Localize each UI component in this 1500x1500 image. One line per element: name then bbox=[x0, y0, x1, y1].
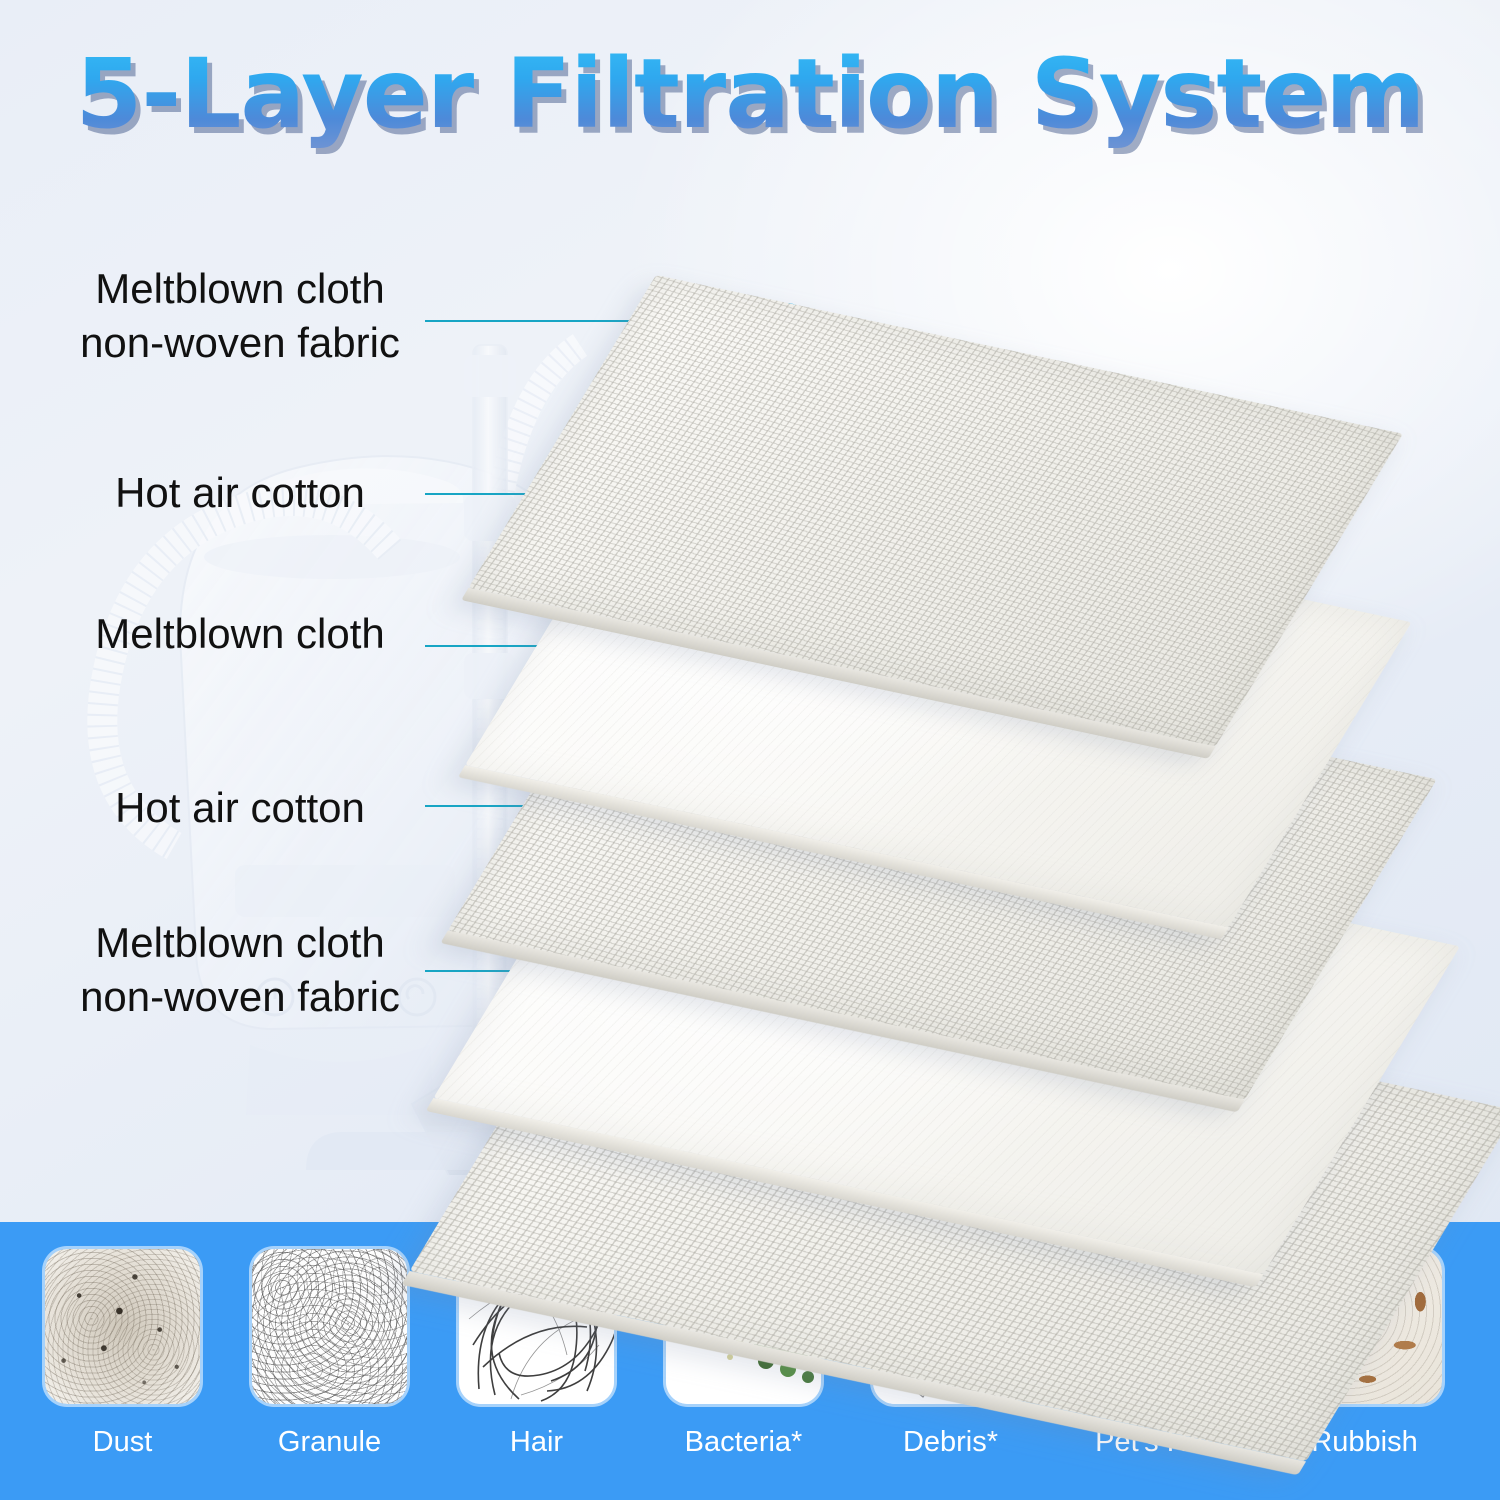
dust-tile-icon bbox=[45, 1249, 200, 1404]
infographic-canvas: 5-Layer Filtration System bbox=[0, 0, 1500, 1500]
layer-label-5: Meltblown cloth non-woven fabric bbox=[40, 916, 440, 1024]
layer-label-4: Hot air cotton bbox=[40, 781, 440, 835]
layer-label-1: Meltblown cloth non-woven fabric bbox=[40, 262, 440, 370]
particle-label: Rubbish bbox=[1311, 1426, 1417, 1459]
particle-item-dust: Dust bbox=[45, 1222, 200, 1500]
particle-label: Bacteria* bbox=[685, 1426, 803, 1459]
layer-label-3: Meltblown cloth bbox=[40, 607, 440, 661]
filter-layer-stack bbox=[600, 130, 1500, 1220]
layer-label-2: Hot air cotton bbox=[40, 466, 440, 520]
particle-label: Dust bbox=[93, 1426, 153, 1459]
particle-label: Granule bbox=[278, 1426, 381, 1459]
particle-label: Hair bbox=[510, 1426, 563, 1459]
particle-item-granule: Granule bbox=[252, 1222, 407, 1500]
particle-label: Debris* bbox=[903, 1426, 998, 1459]
granule-tile-icon bbox=[252, 1249, 407, 1404]
